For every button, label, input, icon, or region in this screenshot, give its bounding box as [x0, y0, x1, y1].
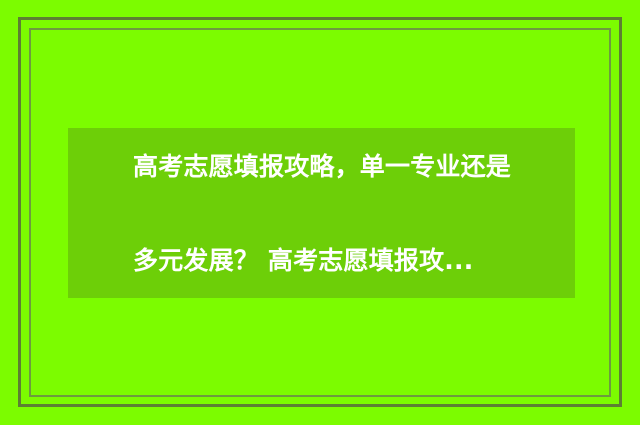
headline-panel: 高考志愿填报攻略，单一专业还是 多元发展？ 高考志愿填报攻...	[68, 128, 575, 298]
headline-line-1: 高考志愿填报攻略，单一专业还是	[133, 143, 555, 190]
thumbnail-canvas: 高考志愿填报攻略，单一专业还是 多元发展？ 高考志愿填报攻...	[0, 0, 640, 425]
headline-line-2: 多元发展？ 高考志愿填报攻...	[133, 237, 555, 284]
headline-text: 高考志愿填报攻略，单一专业还是 多元发展？ 高考志愿填报攻...	[133, 96, 555, 331]
